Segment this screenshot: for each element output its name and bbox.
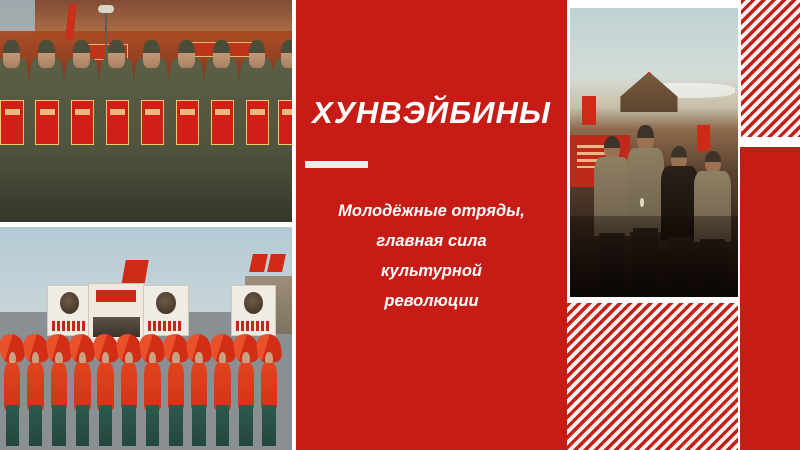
- little-red-book: [35, 100, 59, 145]
- little-red-book: [141, 100, 165, 145]
- little-red-book: [697, 125, 710, 151]
- dancer-legs: [262, 405, 275, 445]
- dancer-torso: [97, 363, 113, 410]
- soldier-figure: [134, 58, 169, 222]
- dancer-legs: [6, 405, 19, 445]
- soldier-figure: [29, 58, 64, 222]
- decor-stripes-bottom-right: [567, 303, 738, 450]
- dancer-legs: [216, 405, 229, 445]
- little-red-book: [582, 96, 595, 125]
- dancer-legs: [29, 405, 42, 445]
- dancer-torso: [144, 363, 160, 410]
- photo-field-red-books: [570, 8, 738, 297]
- little-red-book: [0, 100, 24, 145]
- dancer-torso: [27, 363, 43, 410]
- little-red-book: [278, 100, 292, 145]
- dancer-legs: [122, 405, 135, 445]
- soldier-figure: [204, 58, 239, 222]
- photo-soldiers-tiananmen: [0, 0, 292, 222]
- page-title: ХУНВЭЙБИНЫ: [296, 95, 567, 131]
- soldier-figure: [0, 58, 29, 222]
- photo-parade-dancers: [0, 227, 292, 450]
- subtitle-line: Молодёжные отряды,: [310, 196, 553, 226]
- decor-red-block-right: [740, 147, 800, 450]
- dancer-torso: [168, 363, 184, 410]
- center-red-panel: ХУНВЭЙБИНЫ Молодёжные отряды, главная си…: [296, 0, 567, 450]
- mao-portrait-placard: [47, 285, 93, 336]
- subtitle-line: главная сила: [310, 226, 553, 256]
- little-red-book: [106, 100, 130, 145]
- title-divider: [305, 161, 368, 168]
- little-red-book: [246, 100, 270, 145]
- soldier-figure: [99, 58, 134, 222]
- dancer-torso: [214, 363, 230, 410]
- dancer-legs: [169, 405, 182, 445]
- dancer-legs: [192, 405, 205, 445]
- soldier-figure: [239, 58, 274, 222]
- subtitle-line: культурной: [310, 256, 553, 286]
- dancer-legs: [76, 405, 89, 445]
- little-red-book: [71, 100, 95, 145]
- soldier-figure: [272, 58, 292, 222]
- foreground-shadow: [570, 216, 738, 297]
- dancer-legs: [239, 405, 252, 445]
- soldier-figure: [169, 58, 204, 222]
- dancer-torso: [51, 363, 67, 410]
- little-red-book: [176, 100, 200, 145]
- decor-stripes-top-right: [741, 0, 800, 137]
- dancer-torso: [121, 363, 137, 410]
- dancer-torso: [74, 363, 90, 410]
- chest-badge-icon: [640, 198, 643, 208]
- dancer-legs: [146, 405, 159, 445]
- mao-portrait-placard: [143, 285, 189, 336]
- dancer-torso: [191, 363, 207, 410]
- subtitle-text: Молодёжные отряды, главная сила культурн…: [310, 196, 553, 316]
- subtitle-line: революции: [310, 286, 553, 316]
- slide-canvas: ХУНВЭЙБИНЫ Молодёжные отряды, главная си…: [0, 0, 800, 450]
- dancer-legs: [99, 405, 112, 445]
- dancer-torso: [261, 363, 277, 410]
- little-red-book: [211, 100, 235, 145]
- dancer-torso: [4, 363, 20, 410]
- dancer-legs: [52, 405, 65, 445]
- mao-portrait-placard: [231, 285, 277, 336]
- soldier-figure: [64, 58, 99, 222]
- dancer-torso: [238, 363, 254, 410]
